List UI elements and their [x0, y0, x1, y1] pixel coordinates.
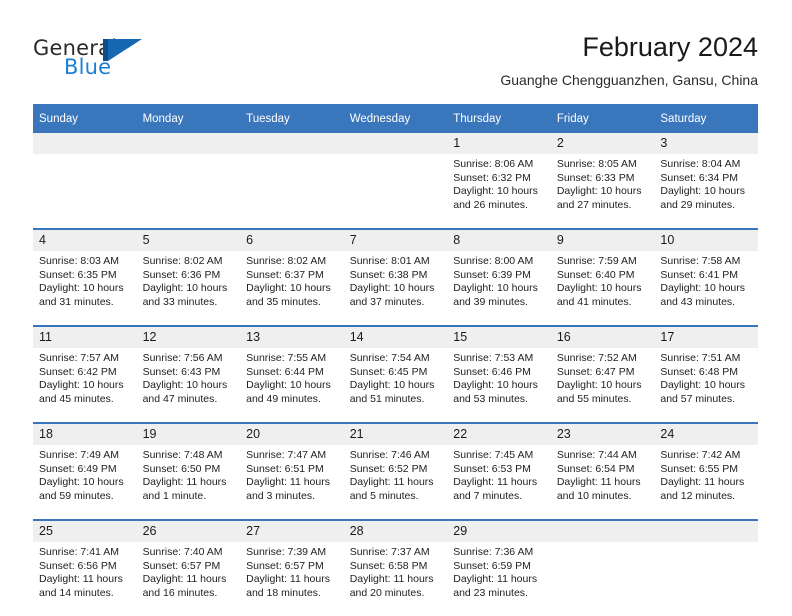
day-detail-line: Sunset: 6:34 PM: [660, 172, 752, 186]
day-detail-line: Daylight: 10 hours: [557, 282, 649, 296]
day-detail-cell[interactable]: Sunrise: 8:02 AMSunset: 6:36 PMDaylight:…: [137, 251, 241, 326]
day-number-cell[interactable]: 8: [447, 229, 551, 251]
day-number-cell[interactable]: 14: [344, 326, 448, 348]
day-detail-line: and 53 minutes.: [453, 393, 545, 407]
day-detail-line: Daylight: 10 hours: [350, 379, 442, 393]
day-detail-cell[interactable]: Sunrise: 7:59 AMSunset: 6:40 PMDaylight:…: [551, 251, 655, 326]
day-detail-line: Sunrise: 7:36 AM: [453, 546, 545, 560]
day-detail-cell[interactable]: Sunrise: 7:37 AMSunset: 6:58 PMDaylight:…: [344, 542, 448, 616]
page-header: General Blue February 2024 Guanghe Cheng…: [33, 30, 758, 98]
day-detail-line: Sunset: 6:38 PM: [350, 269, 442, 283]
day-detail-line: and 1 minute.: [143, 490, 235, 504]
day-detail-cell[interactable]: Sunrise: 7:54 AMSunset: 6:45 PMDaylight:…: [344, 348, 448, 423]
day-detail-line: Sunrise: 8:01 AM: [350, 255, 442, 269]
day-number-cell[interactable]: 6: [240, 229, 344, 251]
week-detail-row: Sunrise: 7:57 AMSunset: 6:42 PMDaylight:…: [33, 348, 758, 423]
day-detail-cell[interactable]: Sunrise: 8:03 AMSunset: 6:35 PMDaylight:…: [33, 251, 137, 326]
weekday-header-saturday: Saturday: [654, 104, 758, 133]
day-detail-line: Daylight: 10 hours: [350, 282, 442, 296]
day-detail-cell[interactable]: Sunrise: 7:42 AMSunset: 6:55 PMDaylight:…: [654, 445, 758, 520]
day-detail-line: and 59 minutes.: [39, 490, 131, 504]
day-detail-line: Daylight: 10 hours: [39, 476, 131, 490]
day-detail-line: Sunset: 6:59 PM: [453, 560, 545, 574]
day-detail-empty: [33, 154, 137, 229]
day-detail-line: Sunset: 6:47 PM: [557, 366, 649, 380]
day-detail-line: and 37 minutes.: [350, 296, 442, 310]
day-detail-line: Sunrise: 8:06 AM: [453, 158, 545, 172]
day-detail-cell[interactable]: Sunrise: 7:36 AMSunset: 6:59 PMDaylight:…: [447, 542, 551, 616]
day-number-cell[interactable]: 13: [240, 326, 344, 348]
day-detail-line: Sunrise: 7:52 AM: [557, 352, 649, 366]
day-detail-line: and 18 minutes.: [246, 587, 338, 601]
day-detail-line: Sunrise: 7:51 AM: [660, 352, 752, 366]
day-detail-line: Daylight: 10 hours: [246, 282, 338, 296]
day-detail-line: and 12 minutes.: [660, 490, 752, 504]
day-detail-line: and 33 minutes.: [143, 296, 235, 310]
calendar-table: Sunday Monday Tuesday Wednesday Thursday…: [33, 104, 758, 616]
day-detail-line: Sunrise: 8:02 AM: [143, 255, 235, 269]
day-detail-line: Daylight: 10 hours: [143, 379, 235, 393]
day-detail-empty: [240, 154, 344, 229]
day-detail-line: Sunrise: 7:58 AM: [660, 255, 752, 269]
day-detail-line: Sunset: 6:57 PM: [246, 560, 338, 574]
weekday-header-sunday: Sunday: [33, 104, 137, 133]
day-detail-line: Sunset: 6:48 PM: [660, 366, 752, 380]
day-detail-empty: [344, 154, 448, 229]
day-detail-line: Sunrise: 7:49 AM: [39, 449, 131, 463]
weekday-header-thursday: Thursday: [447, 104, 551, 133]
day-detail-line: Sunrise: 7:40 AM: [143, 546, 235, 560]
day-detail-line: Sunrise: 7:59 AM: [557, 255, 649, 269]
day-detail-line: and 31 minutes.: [39, 296, 131, 310]
day-detail-line: Sunset: 6:41 PM: [660, 269, 752, 283]
brand-name-blue: Blue: [64, 55, 111, 79]
brand-triangle: [108, 39, 142, 61]
day-detail-line: Sunset: 6:40 PM: [557, 269, 649, 283]
day-detail-line: and 5 minutes.: [350, 490, 442, 504]
day-detail-line: Sunrise: 7:39 AM: [246, 546, 338, 560]
day-detail-line: and 7 minutes.: [453, 490, 545, 504]
day-detail-line: Daylight: 11 hours: [660, 476, 752, 490]
day-detail-line: Daylight: 11 hours: [143, 573, 235, 587]
day-detail-cell[interactable]: Sunrise: 8:04 AMSunset: 6:34 PMDaylight:…: [654, 154, 758, 229]
day-number-cell[interactable]: 7: [344, 229, 448, 251]
day-detail-line: Daylight: 10 hours: [246, 379, 338, 393]
day-detail-line: Daylight: 11 hours: [143, 476, 235, 490]
day-detail-line: and 43 minutes.: [660, 296, 752, 310]
day-detail-line: Sunset: 6:35 PM: [39, 269, 131, 283]
day-detail-line: Daylight: 11 hours: [350, 476, 442, 490]
week-detail-row: Sunrise: 8:03 AMSunset: 6:35 PMDaylight:…: [33, 251, 758, 326]
weekday-header-tuesday: Tuesday: [240, 104, 344, 133]
day-detail-line: Sunset: 6:50 PM: [143, 463, 235, 477]
day-detail-line: Sunset: 6:46 PM: [453, 366, 545, 380]
day-detail-line: Sunset: 6:33 PM: [557, 172, 649, 186]
location-subtitle: Guanghe Chengguanzhen, Gansu, China: [500, 70, 758, 90]
calendar-header-row: Sunday Monday Tuesday Wednesday Thursday…: [33, 104, 758, 133]
day-detail-line: and 57 minutes.: [660, 393, 752, 407]
day-number-empty: [344, 133, 448, 154]
day-detail-line: Daylight: 11 hours: [39, 573, 131, 587]
day-detail-cell[interactable]: Sunrise: 8:05 AMSunset: 6:33 PMDaylight:…: [551, 154, 655, 229]
day-detail-line: Sunset: 6:57 PM: [143, 560, 235, 574]
day-detail-line: Daylight: 10 hours: [557, 379, 649, 393]
day-number-empty: [137, 133, 241, 154]
day-number-cell[interactable]: 15: [447, 326, 551, 348]
calendar-body: 123Sunrise: 8:06 AMSunset: 6:32 PMDaylig…: [33, 133, 758, 616]
day-detail-cell[interactable]: Sunrise: 7:57 AMSunset: 6:42 PMDaylight:…: [33, 348, 137, 423]
day-detail-line: Sunrise: 8:04 AM: [660, 158, 752, 172]
day-number-empty: [240, 133, 344, 154]
day-detail-line: Daylight: 11 hours: [246, 476, 338, 490]
day-number-cell[interactable]: 10: [654, 229, 758, 251]
day-number-cell[interactable]: 3: [654, 133, 758, 154]
day-detail-line: Sunset: 6:55 PM: [660, 463, 752, 477]
day-detail-line: Sunset: 6:39 PM: [453, 269, 545, 283]
day-number-cell[interactable]: 23: [551, 423, 655, 445]
day-detail-empty: [137, 154, 241, 229]
day-number-cell[interactable]: 1: [447, 133, 551, 154]
day-detail-cell[interactable]: Sunrise: 7:39 AMSunset: 6:57 PMDaylight:…: [240, 542, 344, 616]
day-number-cell[interactable]: 18: [33, 423, 137, 445]
day-detail-line: Sunset: 6:45 PM: [350, 366, 442, 380]
day-detail-line: Daylight: 10 hours: [453, 185, 545, 199]
weekday-header-friday: Friday: [551, 104, 655, 133]
day-detail-cell[interactable]: Sunrise: 7:48 AMSunset: 6:50 PMDaylight:…: [137, 445, 241, 520]
day-detail-cell[interactable]: Sunrise: 7:51 AMSunset: 6:48 PMDaylight:…: [654, 348, 758, 423]
day-number-cell[interactable]: 11: [33, 326, 137, 348]
day-detail-cell[interactable]: Sunrise: 8:01 AMSunset: 6:38 PMDaylight:…: [344, 251, 448, 326]
day-detail-line: Sunset: 6:56 PM: [39, 560, 131, 574]
day-number-cell[interactable]: 28: [344, 520, 448, 542]
day-detail-line: Daylight: 11 hours: [350, 573, 442, 587]
day-detail-cell[interactable]: Sunrise: 7:40 AMSunset: 6:57 PMDaylight:…: [137, 542, 241, 616]
week-daynumber-row: 11121314151617: [33, 326, 758, 348]
day-detail-line: Sunrise: 7:37 AM: [350, 546, 442, 560]
day-detail-line: Daylight: 11 hours: [246, 573, 338, 587]
day-detail-line: and 55 minutes.: [557, 393, 649, 407]
day-detail-line: Sunrise: 7:54 AM: [350, 352, 442, 366]
day-detail-line: Sunrise: 7:48 AM: [143, 449, 235, 463]
day-detail-line: Sunset: 6:37 PM: [246, 269, 338, 283]
day-detail-line: and 27 minutes.: [557, 199, 649, 213]
day-detail-line: Sunrise: 7:57 AM: [39, 352, 131, 366]
day-detail-line: Sunset: 6:32 PM: [453, 172, 545, 186]
day-number-empty: [33, 133, 137, 154]
weekday-header-wednesday: Wednesday: [344, 104, 448, 133]
day-detail-line: Sunset: 6:51 PM: [246, 463, 338, 477]
weekday-header-monday: Monday: [137, 104, 241, 133]
day-number-cell[interactable]: 27: [240, 520, 344, 542]
title-block: February 2024 Guanghe Chengguanzhen, Gan…: [500, 30, 758, 90]
day-detail-line: Sunrise: 7:55 AM: [246, 352, 338, 366]
day-detail-line: Daylight: 10 hours: [39, 282, 131, 296]
day-detail-line: and 14 minutes.: [39, 587, 131, 601]
day-detail-line: and 26 minutes.: [453, 199, 545, 213]
day-detail-line: and 45 minutes.: [39, 393, 131, 407]
week-daynumber-row: 123: [33, 133, 758, 154]
day-detail-line: Sunrise: 7:41 AM: [39, 546, 131, 560]
calendar-page: General Blue February 2024 Guanghe Cheng…: [0, 0, 792, 612]
day-number-cell[interactable]: 26: [137, 520, 241, 542]
day-detail-line: Sunrise: 7:42 AM: [660, 449, 752, 463]
day-detail-cell[interactable]: Sunrise: 7:41 AMSunset: 6:56 PMDaylight:…: [33, 542, 137, 616]
day-detail-line: Daylight: 11 hours: [557, 476, 649, 490]
day-detail-cell[interactable]: Sunrise: 8:06 AMSunset: 6:32 PMDaylight:…: [447, 154, 551, 229]
brand-logo[interactable]: General Blue: [33, 36, 233, 86]
week-detail-row: Sunrise: 7:49 AMSunset: 6:49 PMDaylight:…: [33, 445, 758, 520]
day-detail-empty: [551, 542, 655, 616]
day-detail-line: Sunrise: 7:44 AM: [557, 449, 649, 463]
day-number-cell[interactable]: 5: [137, 229, 241, 251]
day-detail-line: Sunrise: 8:03 AM: [39, 255, 131, 269]
day-detail-line: Daylight: 10 hours: [660, 185, 752, 199]
day-detail-line: Daylight: 10 hours: [143, 282, 235, 296]
day-detail-cell[interactable]: Sunrise: 7:47 AMSunset: 6:51 PMDaylight:…: [240, 445, 344, 520]
day-detail-line: Sunrise: 7:47 AM: [246, 449, 338, 463]
day-detail-line: and 49 minutes.: [246, 393, 338, 407]
day-number-cell[interactable]: 24: [654, 423, 758, 445]
day-detail-line: Daylight: 10 hours: [660, 282, 752, 296]
day-detail-cell[interactable]: Sunrise: 8:02 AMSunset: 6:37 PMDaylight:…: [240, 251, 344, 326]
week-detail-row: Sunrise: 7:41 AMSunset: 6:56 PMDaylight:…: [33, 542, 758, 616]
day-detail-line: Sunset: 6:58 PM: [350, 560, 442, 574]
day-detail-cell[interactable]: Sunrise: 7:46 AMSunset: 6:52 PMDaylight:…: [344, 445, 448, 520]
day-detail-line: and 29 minutes.: [660, 199, 752, 213]
day-number-cell[interactable]: 29: [447, 520, 551, 542]
day-detail-line: and 51 minutes.: [350, 393, 442, 407]
day-detail-cell[interactable]: Sunrise: 7:55 AMSunset: 6:44 PMDaylight:…: [240, 348, 344, 423]
day-detail-line: Daylight: 10 hours: [557, 185, 649, 199]
day-detail-cell[interactable]: Sunrise: 7:45 AMSunset: 6:53 PMDaylight:…: [447, 445, 551, 520]
day-detail-line: Sunset: 6:49 PM: [39, 463, 131, 477]
day-detail-cell[interactable]: Sunrise: 7:53 AMSunset: 6:46 PMDaylight:…: [447, 348, 551, 423]
day-detail-line: Sunset: 6:42 PM: [39, 366, 131, 380]
day-detail-line: Daylight: 10 hours: [660, 379, 752, 393]
day-detail-line: Sunrise: 8:02 AM: [246, 255, 338, 269]
day-number-cell[interactable]: 17: [654, 326, 758, 348]
day-number-cell[interactable]: 9: [551, 229, 655, 251]
day-detail-line: Sunrise: 8:05 AM: [557, 158, 649, 172]
day-detail-cell[interactable]: Sunrise: 7:58 AMSunset: 6:41 PMDaylight:…: [654, 251, 758, 326]
day-detail-line: Sunset: 6:44 PM: [246, 366, 338, 380]
day-detail-line: and 16 minutes.: [143, 587, 235, 601]
day-number-cell[interactable]: 22: [447, 423, 551, 445]
day-number-cell[interactable]: 20: [240, 423, 344, 445]
day-detail-line: and 20 minutes.: [350, 587, 442, 601]
day-number-empty: [654, 520, 758, 542]
day-number-cell[interactable]: 12: [137, 326, 241, 348]
day-number-cell[interactable]: 16: [551, 326, 655, 348]
day-detail-line: and 3 minutes.: [246, 490, 338, 504]
day-detail-cell[interactable]: Sunrise: 7:44 AMSunset: 6:54 PMDaylight:…: [551, 445, 655, 520]
day-detail-line: Daylight: 10 hours: [453, 282, 545, 296]
day-detail-cell[interactable]: Sunrise: 8:00 AMSunset: 6:39 PMDaylight:…: [447, 251, 551, 326]
day-number-cell[interactable]: 25: [33, 520, 137, 542]
day-detail-cell[interactable]: Sunrise: 7:52 AMSunset: 6:47 PMDaylight:…: [551, 348, 655, 423]
day-number-empty: [551, 520, 655, 542]
day-detail-line: Sunset: 6:52 PM: [350, 463, 442, 477]
day-detail-line: Sunset: 6:54 PM: [557, 463, 649, 477]
day-detail-line: Sunrise: 7:46 AM: [350, 449, 442, 463]
day-detail-line: Sunset: 6:53 PM: [453, 463, 545, 477]
day-detail-line: Sunrise: 7:53 AM: [453, 352, 545, 366]
day-detail-line: and 23 minutes.: [453, 587, 545, 601]
day-detail-line: and 10 minutes.: [557, 490, 649, 504]
day-detail-line: and 35 minutes.: [246, 296, 338, 310]
day-detail-line: Sunrise: 7:45 AM: [453, 449, 545, 463]
day-detail-line: Daylight: 10 hours: [453, 379, 545, 393]
day-detail-line: and 39 minutes.: [453, 296, 545, 310]
day-number-cell[interactable]: 2: [551, 133, 655, 154]
day-detail-line: Sunset: 6:43 PM: [143, 366, 235, 380]
day-detail-line: Daylight: 11 hours: [453, 573, 545, 587]
week-daynumber-row: 2526272829: [33, 520, 758, 542]
day-detail-line: and 41 minutes.: [557, 296, 649, 310]
day-detail-line: Daylight: 11 hours: [453, 476, 545, 490]
day-number-cell[interactable]: 21: [344, 423, 448, 445]
day-detail-line: and 47 minutes.: [143, 393, 235, 407]
week-daynumber-row: 45678910: [33, 229, 758, 251]
day-detail-empty: [654, 542, 758, 616]
week-daynumber-row: 18192021222324: [33, 423, 758, 445]
week-detail-row: Sunrise: 8:06 AMSunset: 6:32 PMDaylight:…: [33, 154, 758, 229]
page-title: February 2024: [500, 30, 758, 64]
day-detail-line: Sunrise: 7:56 AM: [143, 352, 235, 366]
day-detail-line: Sunrise: 8:00 AM: [453, 255, 545, 269]
day-number-cell[interactable]: 19: [137, 423, 241, 445]
day-number-cell[interactable]: 4: [33, 229, 137, 251]
day-detail-cell[interactable]: Sunrise: 7:56 AMSunset: 6:43 PMDaylight:…: [137, 348, 241, 423]
day-detail-line: Daylight: 10 hours: [39, 379, 131, 393]
day-detail-line: Sunset: 6:36 PM: [143, 269, 235, 283]
day-detail-cell[interactable]: Sunrise: 7:49 AMSunset: 6:49 PMDaylight:…: [33, 445, 137, 520]
